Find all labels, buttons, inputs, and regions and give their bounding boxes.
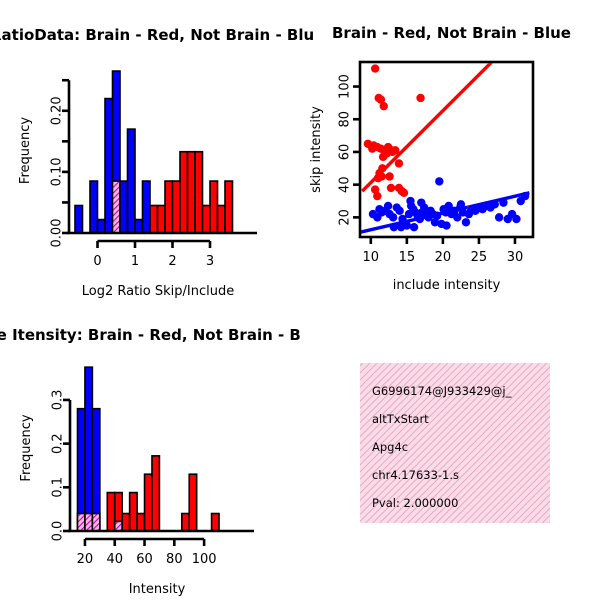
x-tick-label: 25	[471, 250, 488, 265]
x-tick-label: 1	[131, 254, 139, 269]
scatter-point	[380, 102, 388, 110]
scatter-point	[499, 198, 507, 206]
panel-ratio-histogram: RatioData: Brain - Red, Not Brain - Blu …	[0, 0, 300, 305]
y-tick-label: 0.0	[51, 521, 66, 542]
intensity-scatter-svg: 204060801001015202530include intensitysk…	[300, 0, 600, 305]
scatter-point	[374, 174, 382, 182]
scatter-point	[400, 189, 408, 197]
x-tick-label: 20	[435, 250, 452, 265]
scatter-point	[388, 148, 396, 156]
scatter-point	[457, 200, 465, 208]
scatter-point	[491, 200, 499, 208]
x-tick-label: 20	[77, 552, 94, 567]
histogram-bar	[107, 493, 114, 531]
histogram-bar	[145, 474, 152, 531]
histogram-bar	[77, 409, 84, 531]
histogram-bar	[113, 181, 121, 233]
scatter-point	[433, 212, 441, 220]
scatter-point	[416, 94, 424, 102]
y-tick-label: 0.10	[50, 157, 65, 186]
scatter-point	[417, 198, 425, 206]
histogram-bar	[135, 220, 143, 233]
scatter-point	[368, 144, 376, 152]
scatter-point	[389, 213, 397, 221]
histogram-bar	[130, 493, 137, 531]
histogram-bar	[165, 181, 173, 233]
x-tick-label: 2	[168, 254, 176, 269]
histogram-bar	[152, 456, 159, 531]
scatter-point	[495, 213, 503, 221]
x-tick-label: 0	[93, 254, 101, 269]
x-axis-label: Log2 Ratio Skip/Include	[82, 284, 234, 299]
ratio-histogram-svg: 0.000.100.200123Log2 Ratio Skip/IncludeF…	[0, 0, 300, 305]
scatter-point	[435, 177, 443, 185]
y-tick-label: 60	[338, 144, 353, 161]
panel-intensity-scatter: Brain - Red, Not Brain - Blue 2040608010…	[300, 0, 600, 305]
y-tick-label: 0.1	[51, 477, 66, 498]
scatter-point	[390, 223, 398, 231]
histogram-bar	[85, 514, 92, 531]
histogram-bar	[85, 367, 92, 531]
histogram-bar	[210, 181, 218, 233]
histogram-bar	[173, 181, 181, 233]
histogram-bar	[77, 514, 84, 531]
x-tick-label: 60	[136, 552, 153, 567]
y-tick-label: 40	[338, 176, 353, 193]
intensity-histogram-svg: 0.00.10.20.320406080100IntensityFrequenc…	[0, 305, 300, 600]
histogram-bar	[98, 220, 106, 233]
y-tick-label: 20	[338, 209, 353, 226]
histogram-bar	[105, 99, 113, 233]
y-tick-label: 0.00	[50, 219, 65, 248]
histogram-bar	[90, 181, 98, 233]
histogram-bar	[92, 409, 99, 531]
histogram-bar	[150, 206, 158, 234]
scatter-point	[462, 218, 470, 226]
info-line: G6996174@J933429@j_	[372, 384, 512, 398]
x-tick-label: 10	[363, 250, 380, 265]
histogram-bar	[120, 181, 128, 233]
scatter-point	[385, 172, 393, 180]
scatter-point	[406, 197, 414, 205]
scatter-point	[395, 207, 403, 215]
panel-title-intensity-histogram: ne Itensity: Brain - Red, Not Brain - B	[0, 326, 301, 344]
info-line: altTxStart	[372, 412, 429, 426]
y-tick-label: 0.2	[51, 433, 66, 454]
x-axis-label: include intensity	[393, 278, 501, 293]
info-line: chr4.17633-1.s	[372, 468, 459, 482]
histogram-bar	[137, 514, 144, 531]
scatter-point	[410, 223, 418, 231]
panel-title-intensity-scatter: Brain - Red, Not Brain - Blue	[332, 24, 571, 42]
histogram-bar	[225, 181, 233, 233]
info-line: Apg4c	[372, 440, 408, 454]
panel-title-ratio-histogram: RatioData: Brain - Red, Not Brain - Blu	[0, 26, 314, 44]
x-tick-label: 3	[206, 254, 214, 269]
scatter-point	[397, 223, 405, 231]
scatter-point	[375, 205, 383, 213]
panel-intensity-histogram: ne Itensity: Brain - Red, Not Brain - B …	[0, 305, 300, 600]
scatter-point	[387, 184, 395, 192]
scatter-point	[371, 64, 379, 72]
y-tick-label: 0.20	[50, 96, 65, 125]
histogram-bar	[180, 152, 188, 233]
y-axis-label: Frequency	[18, 117, 33, 184]
scatter-point	[378, 164, 386, 172]
panel-event-info: G6996174@J933429@j_altTxStartApg4cchr4.1…	[300, 305, 600, 600]
histogram-bar	[75, 206, 83, 234]
x-tick-label: 40	[106, 552, 123, 567]
x-tick-label: 100	[192, 552, 217, 567]
y-tick-label: 0.3	[51, 390, 66, 411]
scatter-point	[395, 159, 403, 167]
event-info-svg: G6996174@J933429@j_altTxStartApg4cchr4.1…	[300, 305, 600, 600]
scatter-point	[512, 215, 520, 223]
histogram-bar	[188, 152, 196, 233]
histogram-bar	[189, 474, 196, 531]
scatter-point	[384, 202, 392, 210]
y-tick-label: 80	[338, 111, 353, 128]
histogram-bar	[122, 514, 129, 531]
histogram-bar	[195, 152, 203, 233]
y-tick-label: 100	[338, 74, 353, 99]
scatter-point	[373, 192, 381, 200]
histogram-bar	[128, 129, 136, 233]
y-axis-label: skip intensity	[309, 106, 324, 193]
histogram-bar	[218, 206, 226, 234]
x-tick-label: 15	[399, 250, 416, 265]
histogram-bar	[143, 181, 151, 233]
histogram-bar	[212, 514, 219, 531]
histogram-bar	[182, 514, 189, 531]
scatter-point	[521, 192, 529, 200]
y-axis-label: Frequency	[19, 414, 34, 481]
scatter-point	[442, 221, 450, 229]
x-tick-label: 30	[507, 250, 524, 265]
histogram-bar	[203, 206, 211, 234]
x-axis-label: Intensity	[129, 582, 186, 597]
histogram-bar	[92, 514, 99, 531]
histogram-bar	[115, 521, 122, 531]
histogram-bar	[158, 206, 166, 234]
figure-canvas: RatioData: Brain - Red, Not Brain - Blu …	[0, 0, 600, 600]
x-tick-label: 80	[166, 552, 183, 567]
info-line: Pval: 2.000000	[372, 496, 458, 510]
